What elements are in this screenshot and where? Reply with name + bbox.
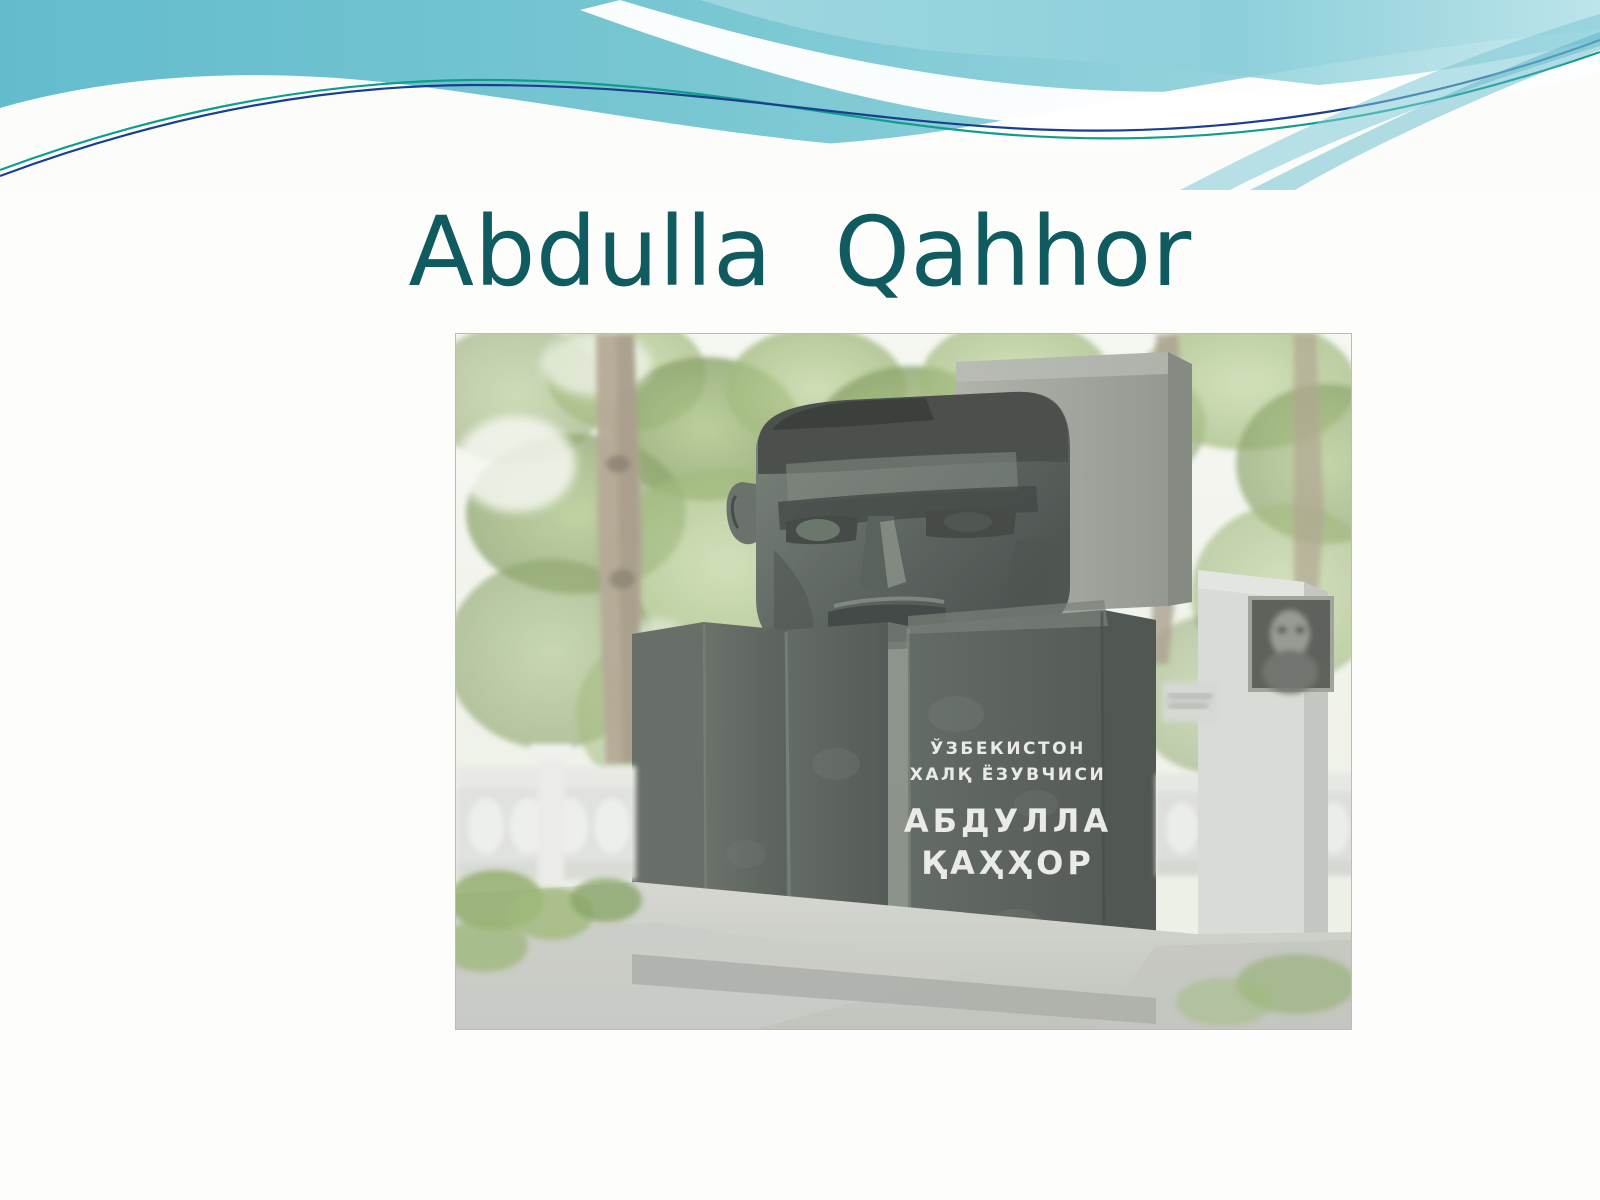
wave-ribbon-right [1180, 14, 1600, 190]
presentation-slide: Abdulla Qahhor [0, 0, 1600, 1200]
monument-photo: ЎЗБЕКИСТОН ХАЛҚ ЁЗУВЧИСИ АБДУЛЛА ҚАҲҲОР [455, 333, 1352, 1030]
wave-band-primary [0, 0, 1600, 149]
wave-sweep-white-lower [0, 72, 1600, 190]
header-wave-decoration [0, 0, 1600, 190]
wave-swoosh-white [580, 0, 1600, 130]
wave-line-navy [0, 40, 1600, 176]
wave-ribbon-right-inner [1250, 32, 1600, 190]
wave-band-light [700, 0, 1600, 120]
slide-title: Abdulla Qahhor [0, 196, 1600, 309]
monument-photo-scene: ЎЗБЕКИСТОН ХАЛҚ ЁЗУВЧИСИ АБДУЛЛА ҚАҲҲОР [456, 334, 1351, 1029]
wave-line-teal [0, 52, 1600, 170]
